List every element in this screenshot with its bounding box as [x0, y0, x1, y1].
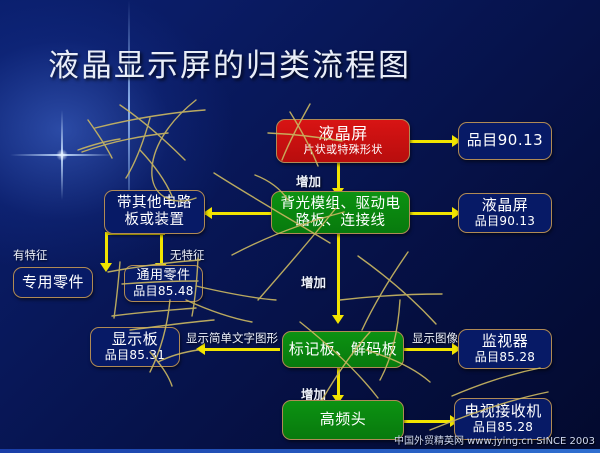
- node-monitor-line1: 监视器: [482, 333, 529, 350]
- node-other-boards[interactable]: 带其他电路 板或装置: [104, 190, 205, 234]
- connector-otherboards-left-down: [105, 232, 108, 266]
- edge-label-add-1: 增加: [296, 171, 321, 190]
- edge-label-simple-text-graphics: 显示简单文字图形: [186, 330, 278, 346]
- node-heading-9013-a-line1: 品目90.13: [467, 132, 543, 149]
- node-general-part-line1: 通用零件: [136, 269, 190, 284]
- node-lcd-panel[interactable]: 液晶屏 片状或特殊形状: [276, 119, 410, 163]
- edge-label-show-image: 显示图像: [412, 330, 458, 346]
- connector-lcdpanel-to-9013: [410, 140, 456, 143]
- connector-marker-to-tuner: [337, 368, 340, 398]
- node-lcd-9013[interactable]: 液晶屏 品目90.13: [458, 193, 552, 233]
- node-general-part[interactable]: 通用零件 品目85.48: [124, 265, 203, 302]
- node-display-board-line2: 品目85.31: [105, 349, 165, 363]
- slide-canvas: 液晶显示屏的归类流程图 增加 增加 增加 有特征 无特征 显示简单文字图形 显示…: [0, 0, 600, 453]
- node-marker-decoder[interactable]: 标记板、解码板: [282, 331, 404, 368]
- node-marker-decoder-line1: 标记板、解码板: [289, 341, 398, 358]
- node-display-board[interactable]: 显示板 品目85.31: [90, 327, 180, 367]
- node-heading-9013-a[interactable]: 品目90.13: [458, 122, 552, 160]
- node-tuner[interactable]: 高频头: [282, 400, 404, 440]
- node-lcd-9013-line2: 品目90.13: [475, 215, 535, 229]
- node-tv-receiver-line1: 电视接收机: [464, 403, 542, 420]
- node-lcd-9013-line1: 液晶屏: [482, 197, 529, 214]
- node-display-board-line1: 显示板: [112, 331, 159, 348]
- edge-label-no-feature: 无特征: [170, 247, 205, 263]
- node-backlight-module[interactable]: 背光模组、驱动电 路板、连接线: [271, 191, 410, 234]
- node-monitor-line2: 品目85.28: [475, 351, 535, 365]
- node-special-part-line1: 专用零件: [22, 274, 84, 291]
- node-other-boards-line1: 带其他电路: [117, 195, 192, 212]
- connector-backlight-to-marker: [337, 234, 340, 318]
- edge-label-add-2: 增加: [301, 272, 326, 291]
- arrowhead-down-specialpart: [100, 263, 112, 272]
- connector-lcdpanel-down: [337, 163, 340, 191]
- node-special-part[interactable]: 专用零件: [13, 267, 93, 298]
- node-general-part-line2: 品目85.48: [133, 285, 193, 299]
- connector-backlight-to-otherboards: [205, 212, 271, 215]
- connector-tuner-to-tv: [404, 420, 454, 423]
- node-lcd-panel-line2: 片状或特殊形状: [303, 144, 382, 157]
- page-title: 液晶显示屏的归类流程图: [48, 40, 411, 85]
- connector-backlight-to-lcd9013: [410, 212, 456, 215]
- node-tuner-line1: 高频头: [320, 411, 367, 428]
- node-backlight-line1: 背光模组、驱动电: [281, 196, 401, 213]
- bottom-accent-bar: [0, 449, 600, 453]
- watermark-text: 中国外贸精英网 www.jying.cn SINCE 2003: [394, 432, 595, 447]
- arrowhead-down-marker: [332, 315, 344, 324]
- connector-marker-to-displayboard: [200, 348, 280, 351]
- star-glow-decoration: [10, 110, 114, 200]
- edge-label-has-feature: 有特征: [13, 247, 48, 263]
- node-lcd-panel-line1: 液晶屏: [318, 125, 368, 143]
- connector-marker-to-monitor: [404, 348, 456, 351]
- node-monitor[interactable]: 监视器 品目85.28: [458, 329, 552, 369]
- connector-otherboards-down: [160, 232, 163, 266]
- node-other-boards-line2: 板或装置: [125, 212, 185, 229]
- node-backlight-line2: 路板、连接线: [296, 213, 386, 230]
